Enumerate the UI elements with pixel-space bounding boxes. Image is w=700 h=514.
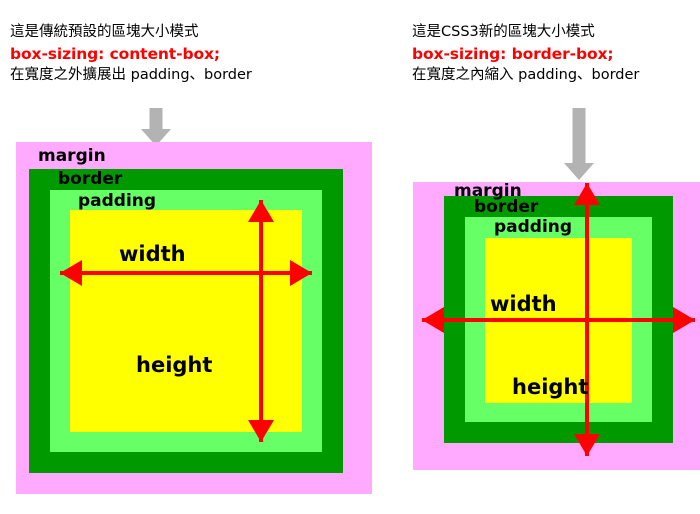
arrow-shaft	[573, 108, 586, 164]
border-label: border	[474, 199, 538, 216]
down-arrow-icon-left	[139, 108, 173, 146]
caption-right-code: box-sizing: border-box;	[412, 43, 639, 65]
box-model-diagram-content-box: margin border padding width height	[16, 142, 372, 494]
caption-right-line1: 這是CSS3新的區塊大小模式	[412, 22, 639, 43]
arrow-head-down	[248, 420, 274, 442]
arrow-line	[60, 271, 312, 275]
height-label: height	[512, 377, 588, 398]
arrow-head-up	[574, 183, 600, 205]
caption-left-line1: 這是傳統預設的區塊大小模式	[10, 22, 252, 43]
arrow-head	[564, 163, 594, 180]
box-model-diagram-border-box: margin border padding width height	[413, 182, 700, 470]
padding-label: padding	[78, 193, 156, 210]
padding-label: padding	[494, 219, 572, 236]
caption-border-box: 這是CSS3新的區塊大小模式 box-sizing: border-box; 在…	[412, 22, 639, 85]
arrow-head-left	[422, 307, 444, 333]
arrow-head-left	[60, 260, 82, 286]
border-label: border	[58, 171, 122, 188]
arrow-head-right	[673, 307, 695, 333]
height-label: height	[136, 355, 212, 376]
caption-left-line3: 在寬度之外擴展出 padding、border	[10, 65, 252, 86]
arrow-line	[585, 183, 589, 456]
arrow-line	[422, 318, 695, 322]
caption-content-box: 這是傳統預設的區塊大小模式 box-sizing: content-box; 在…	[10, 22, 252, 85]
arrow-head-up	[248, 200, 274, 222]
caption-left-code: box-sizing: content-box;	[10, 43, 252, 65]
arrow-head-down	[574, 434, 600, 456]
arrow-shaft	[150, 108, 163, 130]
arrow-head-right	[290, 260, 312, 286]
width-measure-arrow	[60, 260, 312, 286]
down-arrow-icon-right	[562, 108, 596, 180]
caption-right-line3: 在寬度之內縮入 padding、border	[412, 65, 639, 86]
width-label: width	[119, 244, 186, 265]
margin-label: margin	[38, 148, 106, 165]
height-measure-arrow	[248, 200, 274, 442]
height-measure-arrow	[574, 183, 600, 456]
arrow-line	[259, 200, 263, 442]
width-measure-arrow	[422, 307, 695, 333]
width-label: width	[490, 294, 557, 315]
